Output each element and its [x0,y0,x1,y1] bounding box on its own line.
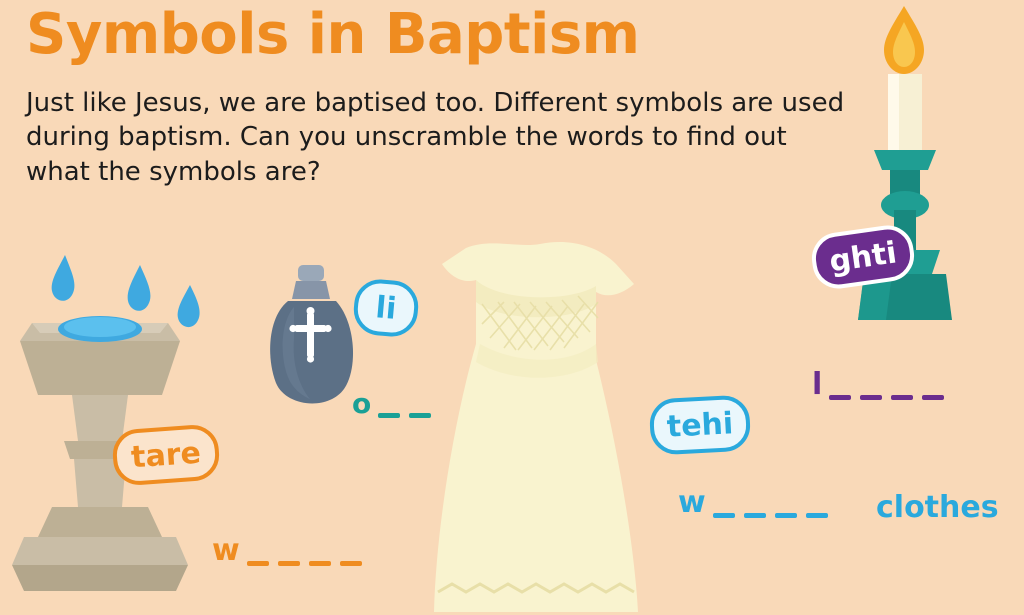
scrambled-word-tare-label: tare [130,435,202,475]
baptismal-candle-illustration [840,0,970,350]
scrambled-word-tehi[interactable]: tehi [649,394,752,455]
answer-blank-light[interactable]: l [812,370,953,400]
answer-light-dashes [829,395,953,400]
answer-water-lead-letter: w [212,536,240,566]
answer-blank-oil[interactable]: o [352,390,440,418]
water-droplet-icon [52,255,200,327]
answer-blank-water[interactable]: w [212,536,371,566]
scrambled-word-tehi-label: tehi [666,406,734,444]
worksheet-canvas: Symbols in Baptism Just like Jesus, we a… [0,0,1024,615]
scrambled-word-li-label: li [374,290,398,327]
answer-blank-white[interactable]: w [678,488,837,518]
scrambled-word-tare[interactable]: tare [111,423,221,486]
page-subtitle: Just like Jesus, we are baptised too. Di… [26,86,846,189]
answer-white-dashes [713,513,837,518]
answer-water-dashes [247,561,371,566]
baptismal-font-illustration [10,245,240,595]
answer-oil-lead-letter: o [352,390,371,418]
scrambled-word-ghti-label: ghti [827,235,899,279]
page-title: Symbols in Baptism [26,2,640,67]
answer-white-lead-letter: w [678,488,706,518]
static-word-clothes: clothes [876,490,999,525]
answer-light-lead-letter: l [812,370,822,400]
answer-oil-dashes [378,413,440,418]
